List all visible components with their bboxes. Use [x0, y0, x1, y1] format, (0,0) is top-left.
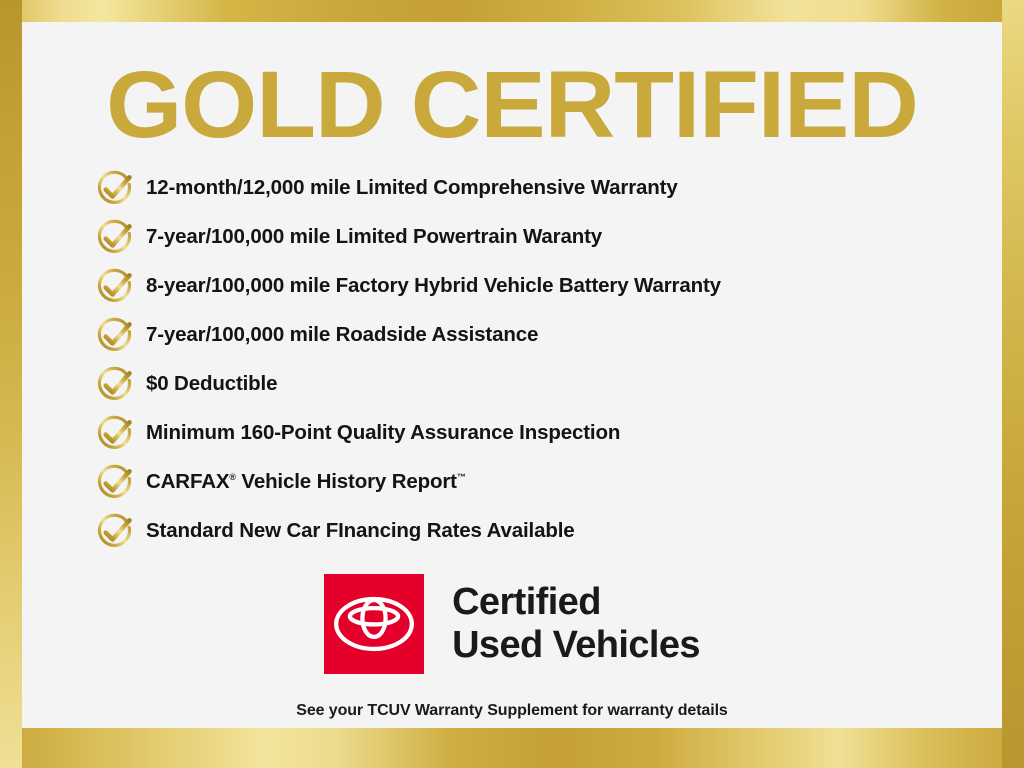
- toyota-certified-used-vehicles-lockup: Certified Used Vehicles: [22, 574, 1002, 674]
- gold-border-top: [0, 0, 1024, 22]
- list-item: $0 Deductible: [94, 360, 994, 409]
- certificate-card: GOLD CERTIFIED: [22, 22, 1002, 728]
- gold-check-icon: [94, 364, 136, 406]
- gold-certified-certificate: GOLD CERTIFIED: [0, 0, 1024, 768]
- carfax-brand: CARFAX: [146, 470, 229, 493]
- trademark-mark: ™: [457, 472, 466, 482]
- list-item-label: Minimum 160-Point Quality Assurance Insp…: [146, 423, 620, 444]
- warranty-footnote: See your TCUV Warranty Supplement for wa…: [22, 702, 1002, 720]
- gold-check-icon: [94, 315, 136, 357]
- gold-border-bottom: [0, 728, 1024, 768]
- toyota-emblem-icon: [331, 593, 417, 655]
- list-item: 7-year/100,000 mile Limited Powertrain W…: [94, 213, 994, 262]
- page-title: GOLD CERTIFIED: [7, 58, 1016, 153]
- list-item-label: $0 Deductible: [146, 374, 277, 395]
- lockup-wordmark: Certified Used Vehicles: [452, 581, 700, 666]
- list-item-label: 12-month/12,000 mile Limited Comprehensi…: [146, 178, 678, 199]
- list-item-label: 7-year/100,000 mile Limited Powertrain W…: [146, 227, 602, 248]
- lockup-line-1: Certified: [452, 581, 700, 624]
- list-item: 8-year/100,000 mile Factory Hybrid Vehic…: [94, 262, 994, 311]
- gold-check-icon: [94, 413, 136, 455]
- carfax-desc: Vehicle History Report: [236, 470, 457, 493]
- gold-check-icon: [94, 266, 136, 308]
- gold-check-icon: [94, 511, 136, 553]
- benefits-list: 12-month/12,000 mile Limited Comprehensi…: [94, 164, 994, 556]
- list-item-label: 7-year/100,000 mile Roadside Assistance: [146, 325, 538, 346]
- toyota-logo-badge: [324, 574, 424, 674]
- list-item: 7-year/100,000 mile Roadside Assistance: [94, 311, 994, 360]
- list-item: 12-month/12,000 mile Limited Comprehensi…: [94, 164, 994, 213]
- list-item: Minimum 160-Point Quality Assurance Insp…: [94, 409, 994, 458]
- list-item: Standard New Car FInancing Rates Availab…: [94, 507, 994, 556]
- gold-check-icon: [94, 217, 136, 259]
- list-item-label: 8-year/100,000 mile Factory Hybrid Vehic…: [146, 276, 721, 297]
- gold-check-icon: [94, 168, 136, 210]
- gold-check-icon: [94, 462, 136, 504]
- lockup-line-2: Used Vehicles: [452, 624, 700, 667]
- list-item-label: Standard New Car FInancing Rates Availab…: [146, 521, 575, 542]
- list-item-label-carfax: CARFAX® Vehicle History Report™: [146, 472, 466, 493]
- list-item: CARFAX® Vehicle History Report™: [94, 458, 994, 507]
